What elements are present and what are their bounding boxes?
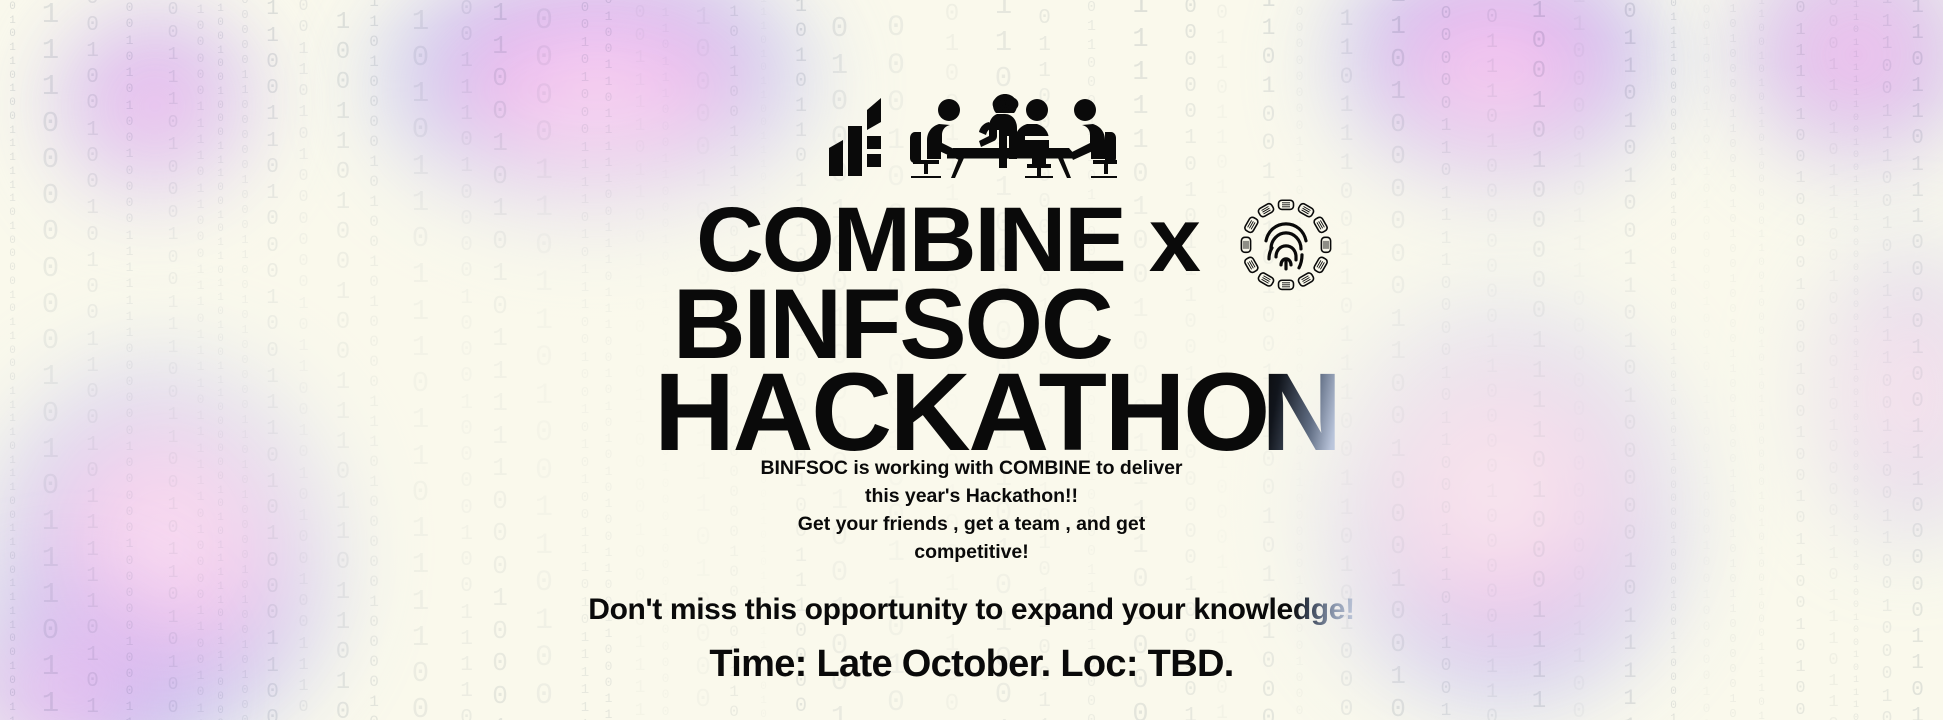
team-meeting-icon [901, 88, 1117, 183]
event-time-location: Time: Late October. Loc: TBD. [0, 643, 1943, 686]
tagline-fade-text: dge! [1293, 593, 1355, 626]
title-block: COMBINE x [0, 198, 1943, 464]
tagline-solid-text: Don't miss this opportunity to expand yo… [588, 593, 1293, 626]
subcopy-line-1: BINFSOC is working with COMBINE to deliv… [0, 455, 1943, 483]
subcopy-line-2: this year's Hackathon!! [0, 483, 1943, 511]
title-line-hackathon: HACKATHO [654, 362, 1268, 464]
bar-chart-icon [827, 96, 885, 183]
subcopy-line-4: competitive! [0, 539, 1943, 567]
poster-content: COMBINE x [0, 0, 1943, 720]
title-hackathon-fade-letter: N [1261, 362, 1340, 464]
subcopy-block: BINFSOC is working with COMBINE to deliv… [0, 455, 1943, 567]
fingerprint-blockchain-icon [1238, 197, 1334, 293]
header-icon-group [0, 88, 1943, 183]
subcopy-line-3: Get your friends , get a team , and get [0, 511, 1943, 539]
title-row-3: HACKATHON [660, 362, 1339, 464]
hackathon-poster: 0 1 0 0 0 1 0 1 1 0 1 0 0 1 1 1 1 1 1 0 … [0, 0, 1943, 720]
tagline: Don't miss this opportunity to expand yo… [0, 593, 1943, 627]
